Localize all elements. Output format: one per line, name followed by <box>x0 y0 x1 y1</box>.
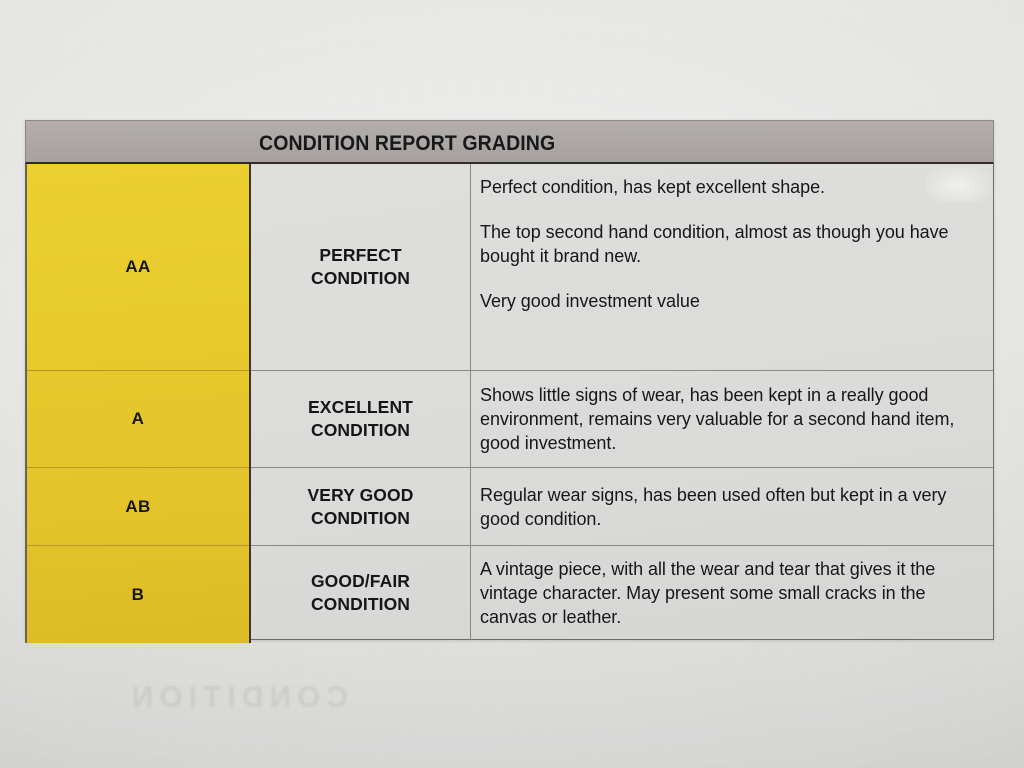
condition-label-line1: GOOD/FAIR <box>311 571 410 591</box>
description-paragraph: A vintage piece, with all the wear and t… <box>480 557 977 629</box>
condition-label: PERFECT CONDITION <box>311 244 410 290</box>
grade-cell-ab: AB <box>27 467 249 545</box>
grade-label: AB <box>125 497 150 517</box>
table-grid: AA A AB B PERFECT <box>25 164 994 640</box>
grade-cell-a: A <box>27 370 249 467</box>
description-paragraph: Very good investment value <box>480 289 977 313</box>
condition-report-grading-table: CONDITION REPORT GRADING AA A AB B <box>25 120 994 640</box>
description-cell: Shows little signs of wear, has been kep… <box>471 371 993 467</box>
condition-label-line2: CONDITION <box>311 508 410 528</box>
description-cell: Perfect condition, has kept excellent sh… <box>471 164 993 370</box>
grade-column: AA A AB B <box>25 164 251 643</box>
grade-label: AA <box>125 257 150 277</box>
description-paragraph: The top second hand condition, almost as… <box>480 220 977 268</box>
condition-cell: EXCELLENT CONDITION <box>251 371 471 467</box>
condition-label-line2: CONDITION <box>311 420 410 440</box>
photographed-document: CONDITION CONDITION REPORT GRADING AA A … <box>0 0 1024 768</box>
condition-cell: PERFECT CONDITION <box>251 164 471 370</box>
condition-cell: VERY GOOD CONDITION <box>251 468 471 545</box>
condition-label-line1: EXCELLENT <box>308 397 413 417</box>
condition-label-line1: PERFECT <box>319 245 401 265</box>
condition-description-area: PERFECT CONDITION Perfect condition, has… <box>251 164 994 640</box>
table-row: GOOD/FAIR CONDITION A vintage piece, wit… <box>251 545 993 640</box>
reverse-side-bleed-through: CONDITION <box>18 680 348 750</box>
condition-cell: GOOD/FAIR CONDITION <box>251 546 471 640</box>
table-row: PERFECT CONDITION Perfect condition, has… <box>251 164 993 370</box>
condition-label-line2: CONDITION <box>311 268 410 288</box>
page-title: CONDITION REPORT GRADING <box>259 132 555 156</box>
condition-label-line2: CONDITION <box>311 594 410 614</box>
table-header-bar: CONDITION REPORT GRADING <box>25 120 994 164</box>
condition-label-line1: VERY GOOD <box>308 485 414 505</box>
description-cell: Regular wear signs, has been used often … <box>471 468 993 545</box>
grade-cell-aa: AA <box>27 164 249 370</box>
description-cell: A vintage piece, with all the wear and t… <box>471 546 993 640</box>
description-paragraph: Perfect condition, has kept excellent sh… <box>480 175 977 199</box>
condition-label: EXCELLENT CONDITION <box>308 396 413 442</box>
grade-label: B <box>132 585 145 605</box>
grade-cell-b: B <box>27 545 249 643</box>
table-row: EXCELLENT CONDITION Shows little signs o… <box>251 370 993 467</box>
condition-label: VERY GOOD CONDITION <box>308 484 414 530</box>
description-paragraph: Regular wear signs, has been used often … <box>480 483 977 531</box>
grade-label: A <box>132 409 145 429</box>
table-row: VERY GOOD CONDITION Regular wear signs, … <box>251 467 993 545</box>
condition-label: GOOD/FAIR CONDITION <box>311 570 410 616</box>
description-paragraph: Shows little signs of wear, has been kep… <box>480 383 977 455</box>
